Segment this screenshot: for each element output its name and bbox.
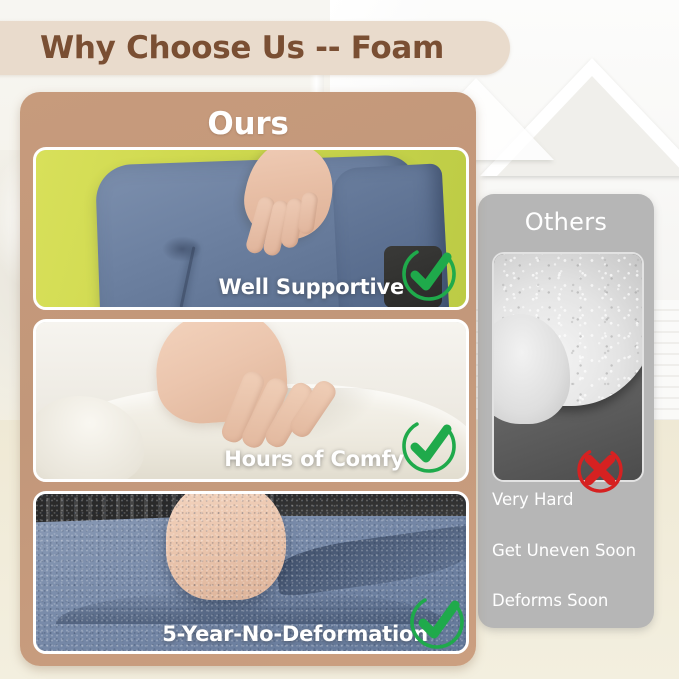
others-panel-title: Others [478,208,654,236]
card3-caption: 5-Year-No-Deformation [162,622,428,646]
card1-cushion-dimple [162,236,202,262]
red-cross-icon [574,444,626,496]
infographic-canvas: Why Choose Us -- Foam Others Very Hard G… [0,0,679,679]
others-drawback-list: Very Hard Get Uneven Soon Deforms Soon [492,492,652,644]
header-banner: Why Choose Us -- Foam [0,21,510,75]
others-list-item: Get Uneven Soon [492,543,652,560]
page-title: Why Choose Us -- Foam [40,30,444,66]
ours-panel-title: Ours [20,106,476,142]
card2-caption: Hours of Comfy [224,447,404,471]
green-check-icon [406,591,468,653]
others-panel: Others Very Hard Get Uneven Soon Deforms… [478,194,654,628]
ours-card: Hours of Comfy [33,319,469,482]
others-list-item: Very Hard [492,492,652,509]
others-list-item: Deforms Soon [492,593,652,610]
green-check-icon [398,243,460,305]
ours-card: Well Supportive [33,147,469,310]
ours-card: 5-Year-No-Deformation [33,491,469,654]
ours-panel: Ours Well Supportive [20,92,476,666]
green-check-icon [398,415,460,477]
card1-caption: Well Supportive [219,275,404,299]
